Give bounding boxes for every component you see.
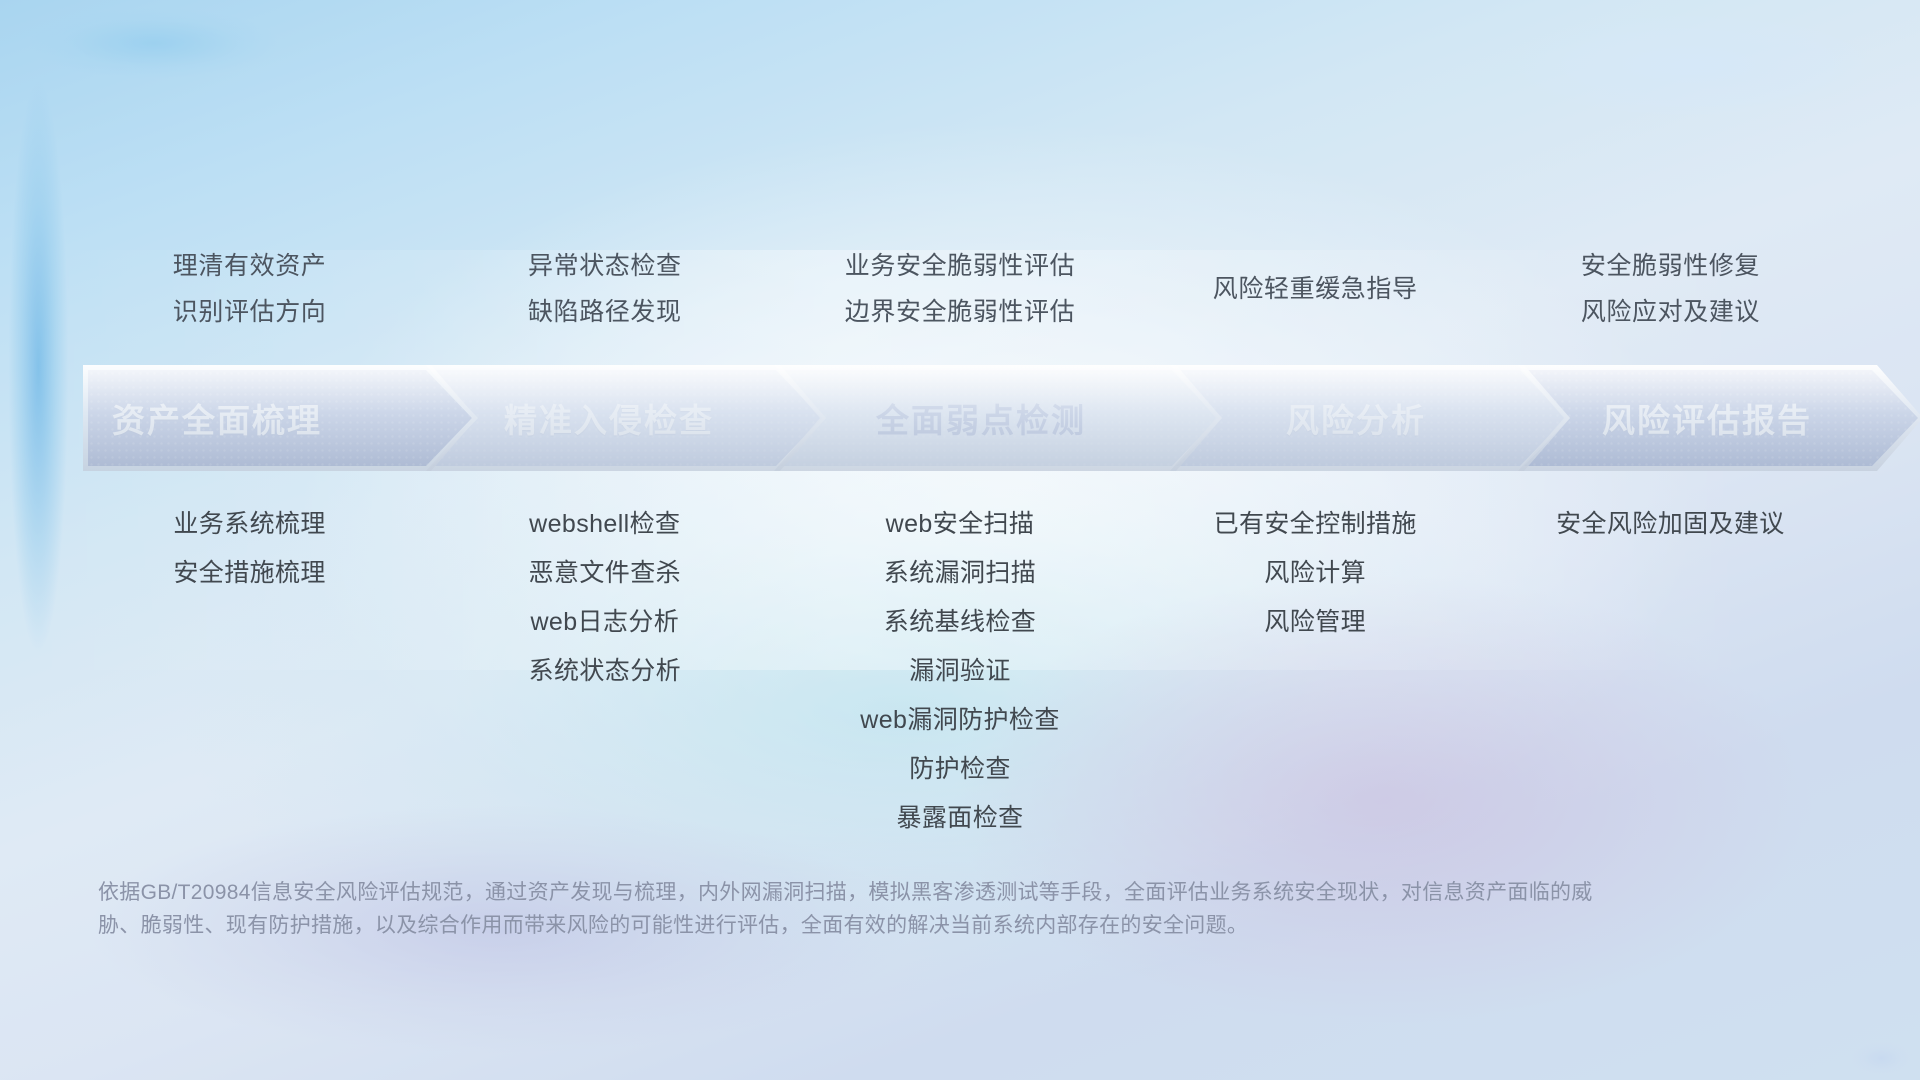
task-item: 暴露面检查	[897, 794, 1024, 843]
chevron-edge-1	[83, 365, 477, 471]
chevron-edge-4	[1170, 365, 1570, 471]
task-item: 安全风险加固及建议	[1556, 500, 1785, 549]
footer-description: 依据GB/T20984信息安全风险评估规范，通过资产发现与梳理，内外网漏洞扫描，…	[98, 876, 1618, 942]
output-line: 识别评估方向	[173, 289, 327, 335]
task-item: 风险管理	[1264, 598, 1366, 647]
output-line: 安全脆弱性修复	[1581, 243, 1760, 289]
output-line: 风险轻重缓急指导	[1213, 266, 1418, 312]
stage-tasks-risk-analysis: 已有安全控制措施 风险计算 风险管理	[1138, 500, 1493, 647]
task-item: 安全措施梳理	[173, 549, 325, 598]
stage-tasks-risk-report: 安全风险加固及建议	[1493, 500, 1848, 549]
output-line: 缺陷路径发现	[528, 289, 682, 335]
task-item: 系统漏洞扫描	[884, 549, 1036, 598]
output-line: 理清有效资产	[173, 243, 327, 289]
task-item: 已有安全控制措施	[1214, 500, 1417, 549]
task-item: webshell检查	[529, 500, 680, 549]
stage-tasks-weakness-detection: web安全扫描 系统漏洞扫描 系统基线检查 漏洞验证 web漏洞防护检查 防护检…	[782, 500, 1137, 843]
stage-tasks-asset-inventory: 业务系统梳理 安全措施梳理	[72, 500, 427, 598]
task-item: 系统状态分析	[529, 647, 681, 696]
stage-outputs-risk-analysis: 风险轻重缓急指导	[1138, 224, 1493, 354]
slide-content: 理清有效资产 识别评估方向 异常状态检查 缺陷路径发现 业务安全脆弱性评估 边界…	[0, 0, 1920, 1080]
task-item: web日志分析	[530, 598, 679, 647]
chevron-edge-5	[1518, 365, 1920, 471]
output-line: 异常状态检查	[528, 243, 682, 289]
stage-outputs-intrusion-check: 异常状态检查 缺陷路径发现	[427, 224, 782, 354]
task-item: web安全扫描	[886, 500, 1035, 549]
output-line: 业务安全脆弱性评估	[845, 243, 1075, 289]
task-item: web漏洞防护检查	[860, 696, 1059, 745]
process-arrow-band: 资产全面梳理 精准入侵检查 全面弱点检测 风险分析 风险评估报告	[88, 370, 1848, 466]
chevron-edge-3	[774, 365, 1222, 471]
output-line: 边界安全脆弱性评估	[845, 289, 1075, 335]
task-item: 恶意文件查杀	[529, 549, 681, 598]
stage-tasks-intrusion-check: webshell检查 恶意文件查杀 web日志分析 系统状态分析	[427, 500, 782, 696]
stage-outputs-asset-inventory: 理清有效资产 识别评估方向	[72, 224, 427, 354]
task-item: 漏洞验证	[909, 647, 1011, 696]
task-item: 风险计算	[1264, 549, 1366, 598]
output-line: 风险应对及建议	[1581, 289, 1760, 335]
stage-outputs-risk-report: 安全脆弱性修复 风险应对及建议	[1493, 224, 1848, 354]
stage-tasks-row: 业务系统梳理 安全措施梳理 webshell检查 恶意文件查杀 web日志分析 …	[72, 500, 1848, 843]
stage-outputs-weakness-detection: 业务安全脆弱性评估 边界安全脆弱性评估	[782, 224, 1137, 354]
chevron-edge-2	[426, 365, 826, 471]
task-item: 防护检查	[909, 745, 1011, 794]
stage-outputs-row: 理清有效资产 识别评估方向 异常状态检查 缺陷路径发现 业务安全脆弱性评估 边界…	[72, 224, 1848, 354]
task-item: 系统基线检查	[884, 598, 1036, 647]
slide-canvas: 理清有效资产 识别评估方向 异常状态检查 缺陷路径发现 业务安全脆弱性评估 边界…	[0, 0, 1920, 1080]
task-item: 业务系统梳理	[173, 500, 325, 549]
